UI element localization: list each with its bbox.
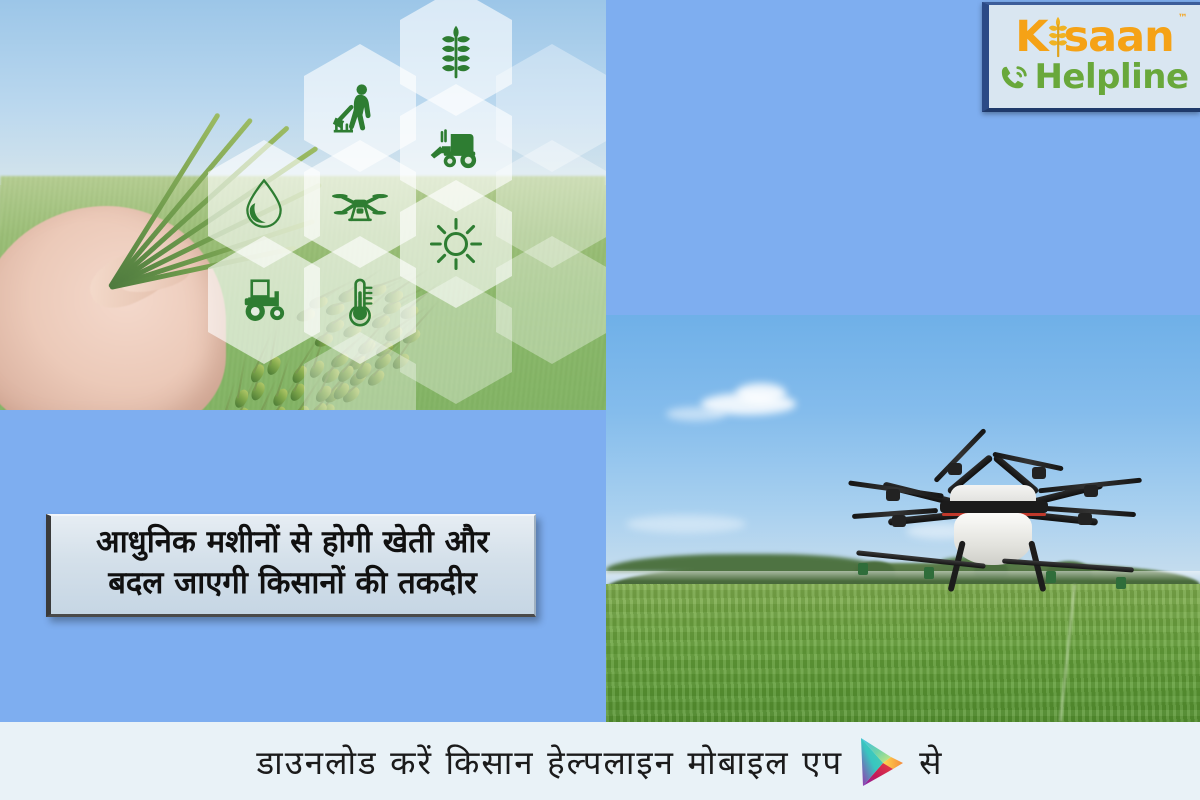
cta-text-after: से xyxy=(919,739,943,784)
spray-nozzle xyxy=(924,567,934,579)
drone-spray-tank xyxy=(954,513,1032,565)
google-play-icon[interactable] xyxy=(857,736,905,786)
harvester-icon xyxy=(428,120,484,176)
hero-image-wheat-hand xyxy=(0,0,606,410)
drone-motor xyxy=(892,515,906,527)
spray-nozzle xyxy=(1046,571,1056,583)
cloud xyxy=(666,407,726,421)
drone-motor xyxy=(886,489,900,501)
drone-motor xyxy=(1084,485,1098,497)
hex-empty-3 xyxy=(496,236,606,364)
phone-signal-icon xyxy=(1000,62,1030,92)
sun-icon xyxy=(428,216,484,272)
wheat-stalk-icon xyxy=(1048,18,1064,56)
hex-empty-4 xyxy=(400,276,512,404)
cloud xyxy=(736,383,786,403)
drone-spray-boom xyxy=(1002,558,1134,572)
water-drop-icon xyxy=(236,176,292,232)
cta-text-before: डाउनलोड करें किसान हेल्पलाइन मोबाइल एप xyxy=(257,739,844,784)
agri-drone xyxy=(842,445,1142,595)
brand-helpline-row: Helpline xyxy=(1000,57,1188,97)
drone-motor xyxy=(948,463,962,475)
poster-root: K saan ™ Helpline xyxy=(0,0,1200,800)
tractor-icon xyxy=(236,272,292,328)
spray-nozzle xyxy=(1116,577,1126,589)
drone-motor xyxy=(1078,513,1092,525)
drone-motor xyxy=(1032,467,1046,479)
brand-name-kisaan: K saan ™ xyxy=(1015,16,1174,59)
drone-stripe xyxy=(940,501,1048,513)
download-cta-bar[interactable]: डाउनलोड करें किसान हेल्पलाइन मोबाइल एप xyxy=(0,722,1200,800)
brand-name-suffix: saan xyxy=(1064,12,1174,62)
headline-banner: आधुनिक मशीनों से होगी खेती और बदल जाएगी … xyxy=(46,514,536,617)
drone-icon xyxy=(332,176,388,232)
trademark-symbol: ™ xyxy=(1178,14,1187,24)
hex-empty-5 xyxy=(304,332,416,410)
hexagon-icon-grid xyxy=(286,0,606,410)
brand-name-helpline: Helpline xyxy=(1034,57,1188,97)
brand-logo-badge[interactable]: K saan ™ Helpline xyxy=(982,2,1200,112)
thermometer-icon xyxy=(332,272,388,328)
brand-k-letter: K xyxy=(1015,12,1047,62)
paddy-field xyxy=(606,584,1200,722)
headline-line-1: आधुनिक मशीनों से होगी खेती और xyxy=(67,522,518,563)
spray-nozzle xyxy=(858,563,868,575)
hero-image-spraying-drone xyxy=(606,315,1200,722)
headline-line-2: बदल जाएगी किसानों की तकदीर xyxy=(67,563,518,604)
cloud xyxy=(626,515,746,533)
farmer-hoe-icon xyxy=(332,80,388,136)
wheat-icon xyxy=(428,24,484,80)
